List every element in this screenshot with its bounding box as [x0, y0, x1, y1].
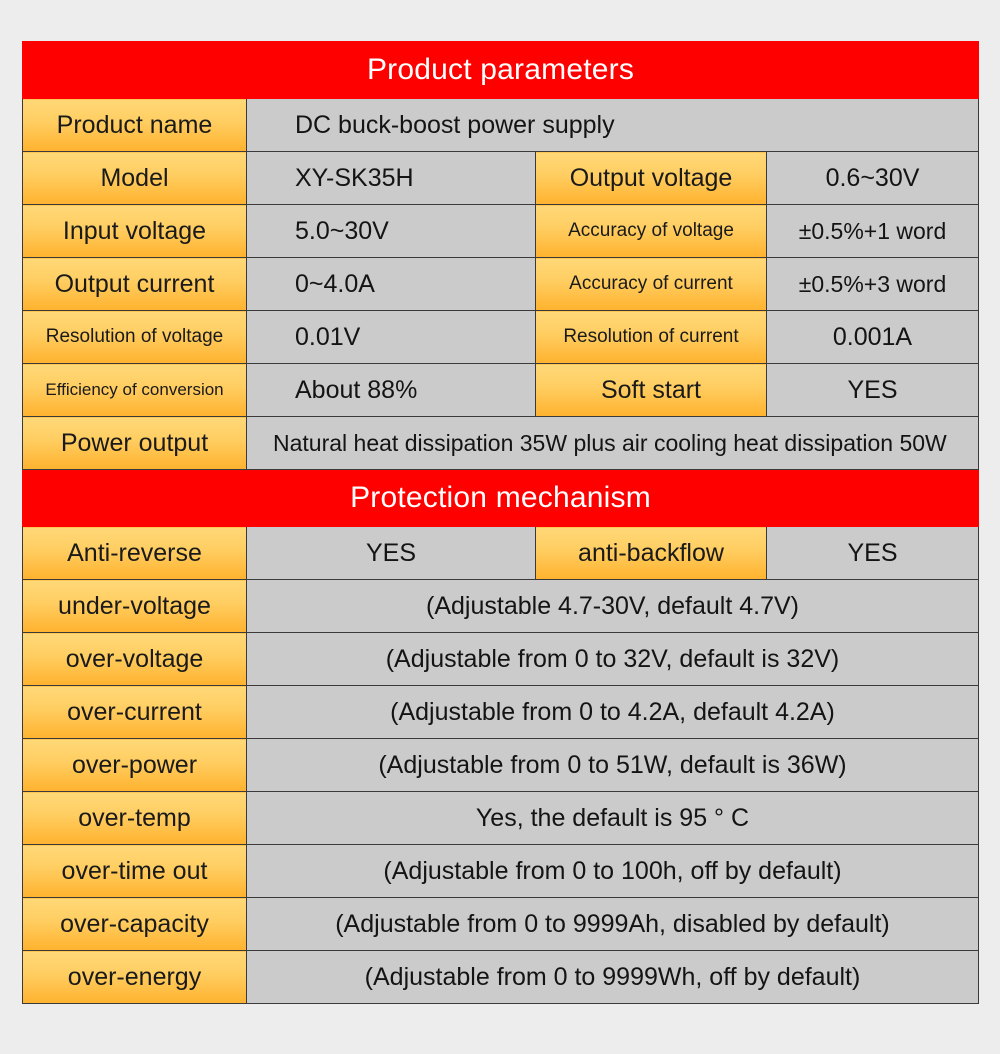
- row-value-over-capacity: (Adjustable from 0 to 9999Ah, disabled b…: [247, 898, 979, 951]
- row-value-output-voltage: 0.6~30V: [767, 152, 979, 205]
- row-value-efficiency-of-conversion: About 88%: [247, 364, 536, 417]
- row-value-product-name: DC buck-boost power supply: [247, 99, 979, 152]
- table-row: under-voltage (Adjustable 4.7-30V, defau…: [23, 580, 979, 633]
- row-label-resolution-of-current: Resolution of current: [536, 311, 767, 364]
- row-value-resolution-of-voltage: 0.01V: [247, 311, 536, 364]
- row-value-over-power: (Adjustable from 0 to 51W, default is 36…: [247, 739, 979, 792]
- row-value-over-time-out: (Adjustable from 0 to 100h, off by defau…: [247, 845, 979, 898]
- table-row: Anti-reverse YES anti-backflow YES: [23, 527, 979, 580]
- row-label-output-current: Output current: [23, 258, 247, 311]
- row-label-accuracy-of-current: Accuracy of current: [536, 258, 767, 311]
- row-value-power-output: Natural heat dissipation 35W plus air co…: [247, 417, 979, 470]
- row-label-anti-backflow: anti-backflow: [536, 527, 767, 580]
- table-row: over-capacity (Adjustable from 0 to 9999…: [23, 898, 979, 951]
- row-value-resolution-of-current: 0.001A: [767, 311, 979, 364]
- row-value-over-temp: Yes, the default is 95 ° C: [247, 792, 979, 845]
- row-value-model: XY-SK35H: [247, 152, 536, 205]
- table-row: Power output Natural heat dissipation 35…: [23, 417, 979, 470]
- row-label-model: Model: [23, 152, 247, 205]
- row-value-under-voltage: (Adjustable 4.7-30V, default 4.7V): [247, 580, 979, 633]
- table-row: over-current (Adjustable from 0 to 4.2A,…: [23, 686, 979, 739]
- row-label-output-voltage: Output voltage: [536, 152, 767, 205]
- table-row: over-time out (Adjustable from 0 to 100h…: [23, 845, 979, 898]
- section-header-row: Protection mechanism: [23, 470, 979, 527]
- row-value-accuracy-of-current: ±0.5%+3 word: [767, 258, 979, 311]
- section-title-protection-mechanism: Protection mechanism: [23, 470, 979, 527]
- row-label-over-capacity: over-capacity: [23, 898, 247, 951]
- row-value-output-current: 0~4.0A: [247, 258, 536, 311]
- row-value-over-energy: (Adjustable from 0 to 9999Wh, off by def…: [247, 951, 979, 1004]
- product-spec-sheet: Product parameters Product name DC buck-…: [0, 0, 1000, 1054]
- row-label-input-voltage: Input voltage: [23, 205, 247, 258]
- row-label-anti-reverse: Anti-reverse: [23, 527, 247, 580]
- row-label-over-voltage: over-voltage: [23, 633, 247, 686]
- table-row: over-temp Yes, the default is 95 ° C: [23, 792, 979, 845]
- row-label-resolution-of-voltage: Resolution of voltage: [23, 311, 247, 364]
- table-row: Resolution of voltage 0.01V Resolution o…: [23, 311, 979, 364]
- row-value-soft-start: YES: [767, 364, 979, 417]
- row-label-over-time-out: over-time out: [23, 845, 247, 898]
- row-value-over-voltage: (Adjustable from 0 to 32V, default is 32…: [247, 633, 979, 686]
- row-label-over-temp: over-temp: [23, 792, 247, 845]
- row-label-soft-start: Soft start: [536, 364, 767, 417]
- row-value-anti-reverse: YES: [247, 527, 536, 580]
- table-row: over-energy (Adjustable from 0 to 9999Wh…: [23, 951, 979, 1004]
- table-row: Efficiency of conversion About 88% Soft …: [23, 364, 979, 417]
- table-row: Product name DC buck-boost power supply: [23, 99, 979, 152]
- row-value-anti-backflow: YES: [767, 527, 979, 580]
- row-label-over-energy: over-energy: [23, 951, 247, 1004]
- row-label-power-output: Power output: [23, 417, 247, 470]
- row-value-input-voltage: 5.0~30V: [247, 205, 536, 258]
- table-row: over-power (Adjustable from 0 to 51W, de…: [23, 739, 979, 792]
- table-row: Model XY-SK35H Output voltage 0.6~30V: [23, 152, 979, 205]
- section-header-row: Product parameters: [23, 42, 979, 99]
- specification-table: Product parameters Product name DC buck-…: [22, 41, 979, 1004]
- row-label-over-power: over-power: [23, 739, 247, 792]
- table-row: Input voltage 5.0~30V Accuracy of voltag…: [23, 205, 979, 258]
- row-label-over-current: over-current: [23, 686, 247, 739]
- table-row: over-voltage (Adjustable from 0 to 32V, …: [23, 633, 979, 686]
- table-row: Output current 0~4.0A Accuracy of curren…: [23, 258, 979, 311]
- row-label-under-voltage: under-voltage: [23, 580, 247, 633]
- row-label-accuracy-of-voltage: Accuracy of voltage: [536, 205, 767, 258]
- row-label-product-name: Product name: [23, 99, 247, 152]
- section-title-product-parameters: Product parameters: [23, 42, 979, 99]
- row-value-accuracy-of-voltage: ±0.5%+1 word: [767, 205, 979, 258]
- row-value-over-current: (Adjustable from 0 to 4.2A, default 4.2A…: [247, 686, 979, 739]
- row-label-efficiency-of-conversion: Efficiency of conversion: [23, 364, 247, 417]
